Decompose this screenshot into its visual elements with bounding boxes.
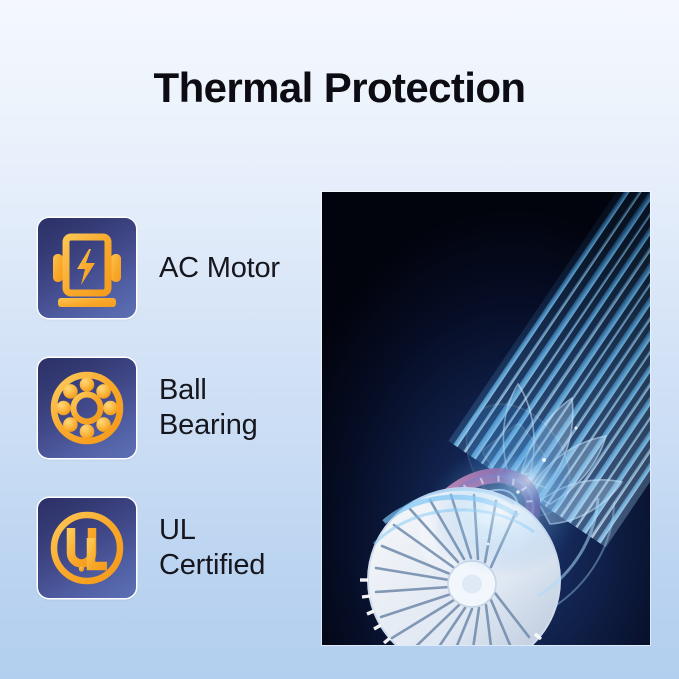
ac-motor-icon — [38, 218, 136, 318]
ball-bearing-icon-tile — [38, 358, 136, 458]
feature-item-ac-motor[interactable]: AC Motor — [38, 218, 308, 318]
ball-bearing-icon — [38, 358, 136, 458]
ul-certified-icon-tile — [38, 498, 136, 598]
product-image — [322, 192, 650, 645]
ul-certified-icon — [38, 498, 136, 598]
ac-motor-icon-tile — [38, 218, 136, 318]
page-title: Thermal Protection — [0, 64, 679, 112]
feature-label-ul-certified: UL Certified — [159, 513, 265, 583]
feature-list: AC Motor — [38, 218, 308, 598]
feature-label-ac-motor: AC Motor — [159, 251, 280, 286]
page-root: Thermal Protection — [0, 0, 679, 679]
feature-label-ball-bearing: Ball Bearing — [159, 373, 258, 443]
feature-item-ball-bearing[interactable]: Ball Bearing — [38, 358, 308, 458]
fan-motor-airflow-photo — [322, 192, 650, 645]
feature-item-ul-certified[interactable]: UL Certified — [38, 498, 308, 598]
